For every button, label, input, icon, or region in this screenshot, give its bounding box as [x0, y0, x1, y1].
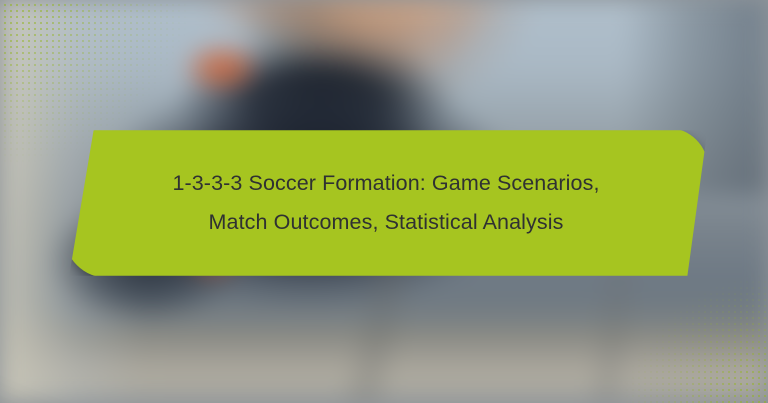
banner-content: 1-3-3-3 Soccer Formation: Game Scenarios… [64, 164, 708, 242]
hero-card: 1-3-3-3 Soccer Formation: Game Scenarios… [0, 0, 768, 403]
title-banner: 1-3-3-3 Soccer Formation: Game Scenarios… [64, 128, 708, 278]
page-title: 1-3-3-3 Soccer Formation: Game Scenarios… [120, 164, 652, 242]
